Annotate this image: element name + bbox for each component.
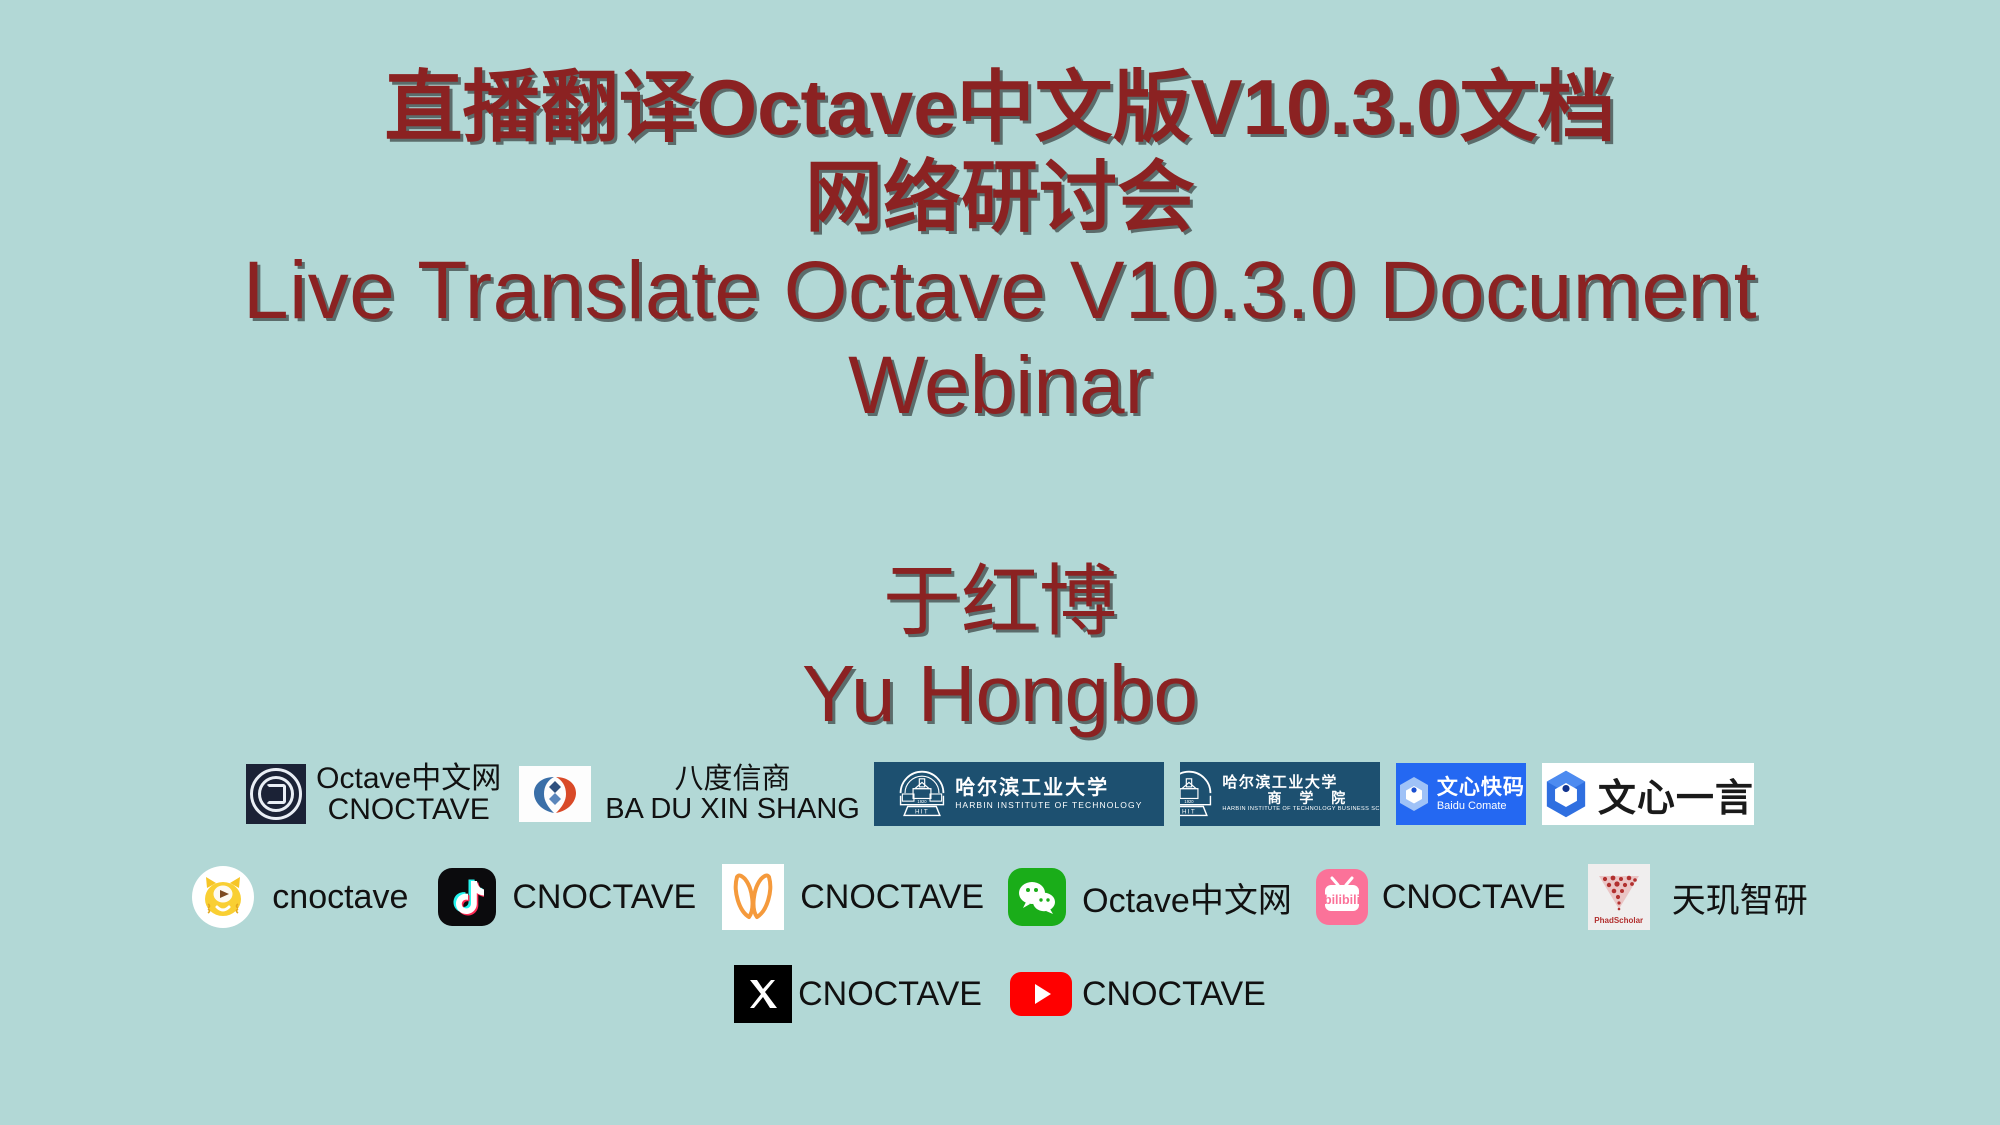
orange-butterfly-icon bbox=[722, 864, 784, 930]
comate-label-english: Baidu Comate bbox=[1437, 800, 1525, 812]
hit-business-label-english: HARBIN INSTITUTE OF TECHNOLOGY BUSINESS … bbox=[1222, 807, 1379, 813]
logo-rows: Octave中文网 CNOCTAVE 八度信商 BA DU XIN SHAN bbox=[0, 748, 2000, 1034]
badu-label-line1: 八度信商 bbox=[675, 764, 791, 794]
hit-label-english: HARBIN INSTITUTE OF TECHNOLOGY bbox=[955, 801, 1142, 810]
baidu-comate-hex-icon bbox=[1397, 775, 1431, 813]
hit-words: 哈尔滨工业大学 HARBIN INSTITUTE OF TECHNOLOGY bbox=[955, 778, 1142, 810]
title-english-line-1: Live Translate Octave V10.3.0 Document bbox=[0, 243, 2000, 338]
badu-label-line2: BA DU XIN SHANG bbox=[605, 794, 860, 824]
phadscholar-badge: PhadScholar bbox=[1594, 916, 1643, 925]
octave-cn-label-line2: CNOCTAVE bbox=[328, 794, 490, 825]
xigua-label: cnoctave bbox=[272, 878, 408, 917]
bilibili-label: CNOCTAVE bbox=[1382, 878, 1566, 917]
phadscholar-funnel-icon: PhadScholar bbox=[1588, 864, 1650, 930]
hit-business-seal-icon: HIT 1920 bbox=[1180, 769, 1217, 819]
speaker-name-chinese: 于红博 bbox=[0, 555, 2000, 647]
logo-item-youtube-cnoctave[interactable]: CNOCTAVE bbox=[1010, 972, 1266, 1016]
youtube-label: CNOCTAVE bbox=[1082, 975, 1266, 1014]
title-block: 直播翻译Octave中文版V10.3.0文档 网络研讨会 Live Transl… bbox=[0, 62, 2000, 433]
speaker-block: 于红博 Yu Hongbo bbox=[0, 555, 2000, 741]
hit-label-chinese: 哈尔滨工业大学 bbox=[955, 778, 1142, 799]
logo-item-hit[interactable]: HIT 1920 哈尔滨工业大学 HARBIN INSTITUTE OF TEC… bbox=[874, 762, 1164, 826]
logo-row-2: cnoctave CNOCTAVE bbox=[0, 848, 2000, 946]
title-chinese-line-1: 直播翻译Octave中文版V10.3.0文档 bbox=[0, 62, 2000, 152]
logo-item-x-cnoctave[interactable]: CNOCTAVE bbox=[734, 965, 982, 1023]
hit-business-logo-tile: HIT 1920 哈尔滨工业大学 商 学 院 HARBIN INSTITUTE … bbox=[1180, 762, 1380, 826]
logo-item-badu-xin-shang[interactable]: 八度信商 BA DU XIN SHANG bbox=[519, 764, 860, 824]
bilibili-tv-icon: bilibili bbox=[1316, 869, 1368, 925]
slide-root: 直播翻译Octave中文版V10.3.0文档 网络研讨会 Live Transl… bbox=[0, 0, 2000, 1125]
svg-text:1920: 1920 bbox=[1185, 799, 1195, 804]
octave-logo-icon bbox=[246, 764, 306, 824]
logo-item-wechat-octave-cn[interactable]: Octave中文网 bbox=[1008, 868, 1292, 926]
butterfly-label: CNOCTAVE bbox=[800, 878, 984, 917]
ernie-label: 文心一言 bbox=[1598, 767, 1754, 822]
logo-row-3: CNOCTAVE CNOCTAVE bbox=[0, 954, 2000, 1034]
hit-business-label-chinese-1: 哈尔滨工业大学 bbox=[1222, 775, 1379, 791]
x-label: CNOCTAVE bbox=[798, 975, 982, 1014]
comate-words: 文心快码 Baidu Comate bbox=[1437, 776, 1525, 811]
title-english-line-2: Webinar bbox=[0, 338, 2000, 433]
logo-row-1: Octave中文网 CNOCTAVE 八度信商 BA DU XIN SHAN bbox=[0, 748, 2000, 840]
comate-label-chinese: 文心快码 bbox=[1437, 776, 1525, 799]
youtube-play-icon bbox=[1010, 972, 1072, 1016]
hit-business-words: 哈尔滨工业大学 商 学 院 HARBIN INSTITUTE OF TECHNO… bbox=[1222, 775, 1379, 813]
logo-item-octave-cn[interactable]: Octave中文网 CNOCTAVE bbox=[246, 763, 501, 825]
logo-item-douyin-cnoctave[interactable]: CNOCTAVE bbox=[438, 868, 696, 926]
wechat-label: Octave中文网 bbox=[1082, 873, 1292, 922]
logo-item-bilibili-cnoctave[interactable]: bilibili CNOCTAVE bbox=[1316, 869, 1566, 925]
baidu-comate-tile: 文心快码 Baidu Comate bbox=[1396, 763, 1526, 825]
title-chinese-line-2: 网络研讨会 bbox=[0, 152, 2000, 242]
x-twitter-icon bbox=[734, 965, 792, 1023]
wechat-bubbles-icon bbox=[1008, 868, 1066, 926]
douyin-note-icon bbox=[438, 868, 496, 926]
badu-label: 八度信商 BA DU XIN SHANG bbox=[605, 764, 860, 824]
hit-seal-icon: HIT 1920 bbox=[895, 769, 949, 819]
octave-cn-label: Octave中文网 CNOCTAVE bbox=[316, 763, 501, 825]
logo-item-xigua-cnoctave[interactable]: cnoctave bbox=[192, 866, 408, 928]
speaker-name-english: Yu Hongbo bbox=[0, 647, 2000, 741]
hit-logo-tile: HIT 1920 哈尔滨工业大学 HARBIN INSTITUTE OF TEC… bbox=[874, 762, 1164, 826]
logo-item-phadscholar[interactable]: PhadScholar 天玑智研 bbox=[1588, 864, 1808, 930]
badu-swirl-icon bbox=[519, 766, 591, 822]
octave-cn-label-line1: Octave中文网 bbox=[316, 763, 501, 794]
douyin-label: CNOCTAVE bbox=[512, 878, 696, 917]
ernie-hex-icon bbox=[1542, 768, 1590, 820]
logo-item-ernie-bot[interactable]: 文心一言 bbox=[1542, 763, 1754, 825]
xigua-cat-icon bbox=[192, 866, 254, 928]
hit-business-label-chinese-2: 商 学 院 bbox=[1222, 791, 1379, 806]
svg-text:HIT: HIT bbox=[1182, 809, 1196, 816]
svg-text:HIT: HIT bbox=[915, 809, 929, 816]
logo-item-baidu-comate[interactable]: 文心快码 Baidu Comate bbox=[1396, 763, 1526, 825]
ernie-tile: 文心一言 bbox=[1542, 763, 1754, 825]
logo-item-hit-business-school[interactable]: HIT 1920 哈尔滨工业大学 商 学 院 HARBIN INSTITUTE … bbox=[1180, 762, 1380, 826]
svg-text:bilibili: bilibili bbox=[1324, 893, 1360, 907]
svg-text:1920: 1920 bbox=[918, 799, 928, 804]
phadscholar-label: 天玑智研 bbox=[1672, 873, 1808, 922]
logo-item-butterfly-cnoctave[interactable]: CNOCTAVE bbox=[722, 864, 984, 930]
